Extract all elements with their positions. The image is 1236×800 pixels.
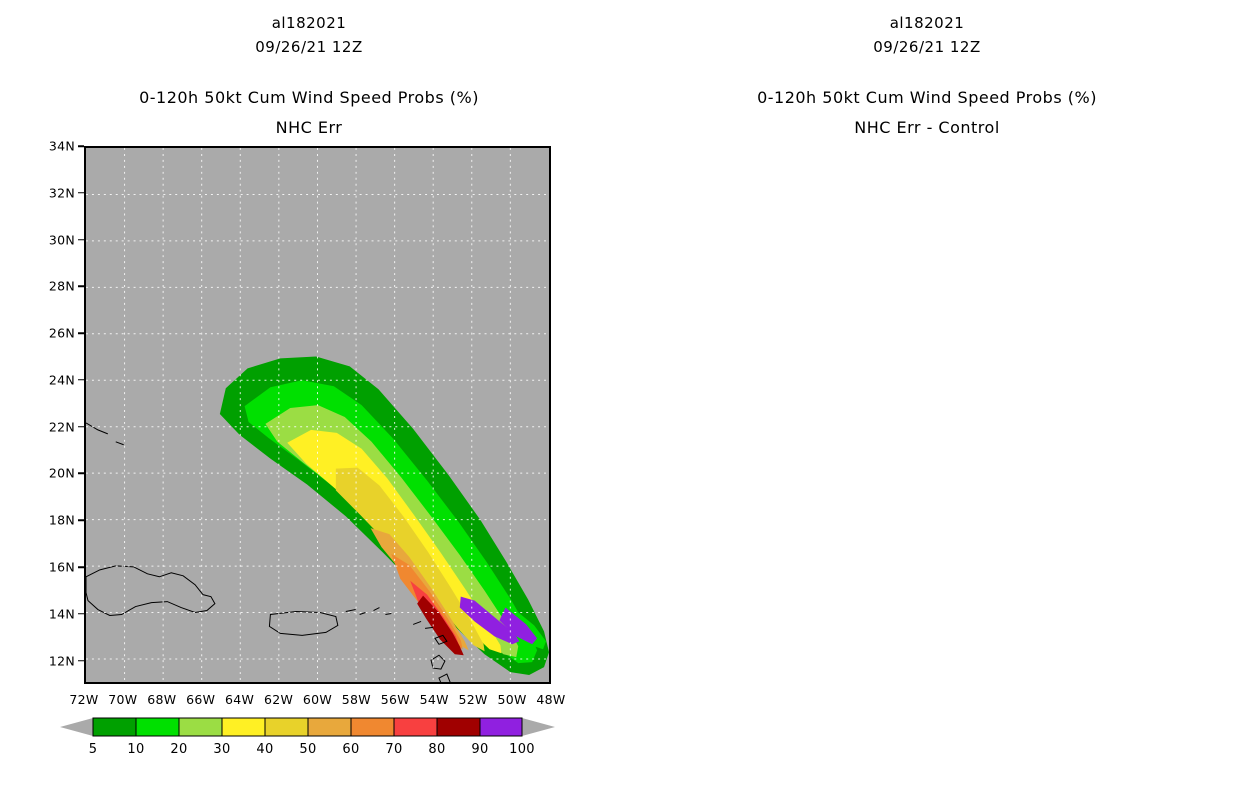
colorbar-label-100: 100 <box>509 742 535 757</box>
colorbar-left-svg <box>60 714 555 740</box>
colorbar-label-5: 5 <box>89 742 98 757</box>
panel-title-right: 0-120h 50kt Cum Wind Speed Probs (%) <box>618 88 1236 107</box>
x-tick-64w: 64W <box>225 692 254 707</box>
panel-nhc-err: al182021 09/26/21 12Z 0-120h 50kt Cum Wi… <box>0 0 618 800</box>
x-tick-68w: 68W <box>147 692 176 707</box>
colorbar-label-70: 70 <box>385 742 402 757</box>
y-tick-26n: 26N <box>49 326 75 341</box>
colorbar-band-30 <box>222 718 265 736</box>
x-tick-72w: 72W <box>69 692 98 707</box>
colorbar-band-50 <box>308 718 351 736</box>
y-tick-16n: 16N <box>49 560 75 575</box>
x-tick-58w: 58W <box>342 692 371 707</box>
colorbar-cap-low <box>60 718 93 736</box>
y-tick-24n: 24N <box>49 372 75 387</box>
colorbar-cap-high <box>522 718 555 736</box>
panel-subtitle-left: NHC Err <box>0 118 618 137</box>
colorbar-label-80: 80 <box>428 742 445 757</box>
colorbar-label-10: 10 <box>127 742 144 757</box>
x-tick-48w: 48W <box>536 692 565 707</box>
storm-id-right: al182021 <box>618 14 1236 32</box>
panel-nhc-err-minus-control: al182021 09/26/21 12Z 0-120h 50kt Cum Wi… <box>618 0 1236 800</box>
colorbar-label-40: 40 <box>256 742 273 757</box>
panel-title-left: 0-120h 50kt Cum Wind Speed Probs (%) <box>0 88 618 107</box>
map-frame-left <box>84 146 551 684</box>
y-tick-30n: 30N <box>49 232 75 247</box>
x-tick-54w: 54W <box>420 692 449 707</box>
colorbar-band-40 <box>265 718 308 736</box>
x-tick-50w: 50W <box>498 692 527 707</box>
colorbar-band-5 <box>93 718 136 736</box>
coast-hispaniola <box>86 566 215 616</box>
y-tick-12n: 12N <box>49 653 75 668</box>
y-tick-28n: 28N <box>49 279 75 294</box>
colorbar-left-body <box>60 714 555 740</box>
coast-dominica <box>439 674 451 682</box>
y-tick-18n: 18N <box>49 513 75 528</box>
colorbar-band-60 <box>351 718 394 736</box>
x-tick-56w: 56W <box>381 692 410 707</box>
colorbar-label-60: 60 <box>342 742 359 757</box>
x-tick-62w: 62W <box>264 692 293 707</box>
x-tick-70w: 70W <box>108 692 137 707</box>
colorbar-band-10 <box>136 718 179 736</box>
colorbar-label-20: 20 <box>170 742 187 757</box>
map-nhc-err[interactable]: 34N 32N 30N 28N 26N 24N 22N 20N 18N 16N … <box>84 146 551 684</box>
forecast-datetime-left: 09/26/21 12Z <box>0 38 618 56</box>
map-canvas-left <box>86 148 549 682</box>
x-tick-52w: 52W <box>459 692 488 707</box>
storm-id-left: al182021 <box>0 14 618 32</box>
colorbar-band-20 <box>179 718 222 736</box>
colorbar-label-30: 30 <box>213 742 230 757</box>
y-tick-20n: 20N <box>49 466 75 481</box>
x-tick-66w: 66W <box>186 692 215 707</box>
colorbar-band-90 <box>480 718 522 736</box>
y-tick-14n: 14N <box>49 606 75 621</box>
y-tick-22n: 22N <box>49 419 75 434</box>
x-tick-60w: 60W <box>303 692 332 707</box>
colorbar-band-70 <box>394 718 437 736</box>
colorbar-label-90: 90 <box>471 742 488 757</box>
colorbar-band-80 <box>437 718 480 736</box>
forecast-datetime-right: 09/26/21 12Z <box>618 38 1236 56</box>
y-tick-32n: 32N <box>49 185 75 200</box>
colorbar-probability[interactable]: 5 10 20 30 40 50 60 70 80 90 100 <box>60 714 555 772</box>
y-tick-34n: 34N <box>49 139 75 154</box>
colorbar-label-50: 50 <box>299 742 316 757</box>
probability-contours-left <box>220 356 549 675</box>
panel-subtitle-right: NHC Err - Control <box>618 118 1236 137</box>
coast-virginislands <box>346 608 392 615</box>
coast-puertorico <box>269 612 337 636</box>
